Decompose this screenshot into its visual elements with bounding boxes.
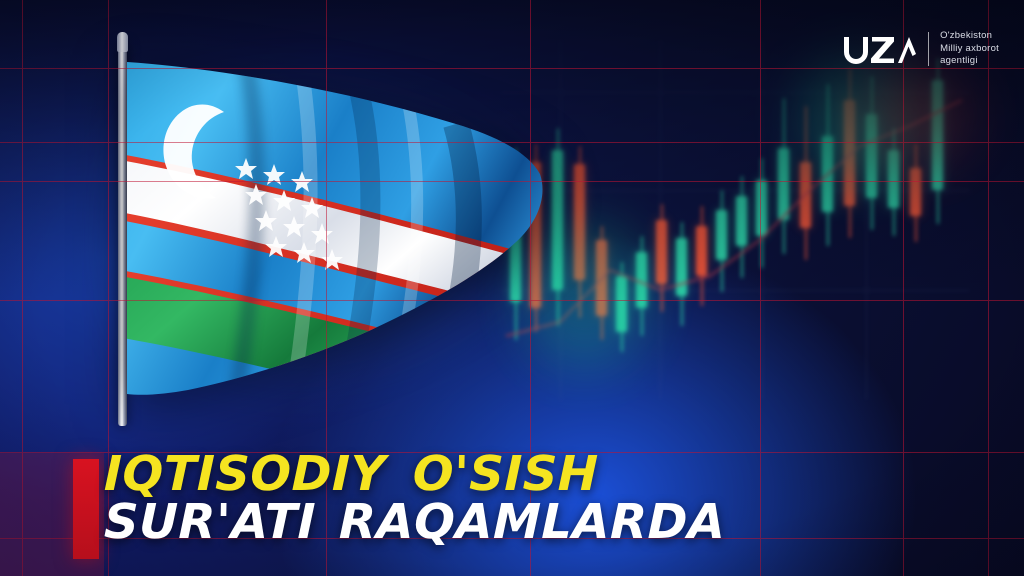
headline-accent-bar [73,459,99,559]
uza-wordmark-icon [843,34,917,64]
headline-line-1: IQTISODIY O'SISH [104,451,905,497]
uza-logo[interactable]: O'zbekiston Milliy axborot agentligi [843,30,999,68]
headline-block: IQTISODIY O'SISH SUR'ATI RAQAMLARDA [104,451,904,545]
headline-line-2: SUR'ATI RAQAMLARDA [104,499,905,545]
poster-canvas: IQTISODIY O'SISH SUR'ATI RAQAMLARDA O'zb… [0,0,1024,576]
logo-tagline: O'zbekiston Milliy axborot agentligi [940,30,999,68]
logo-divider [928,32,929,66]
